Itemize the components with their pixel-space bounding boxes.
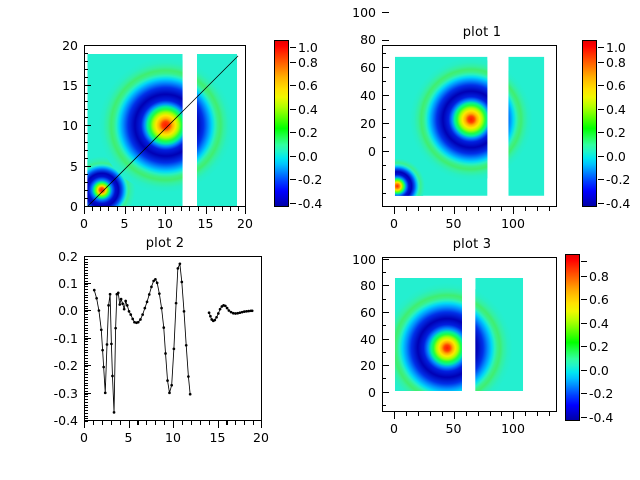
data-point-marker: [100, 328, 103, 331]
ytick-minor: [84, 295, 88, 296]
data-point-marker: [117, 292, 120, 295]
ytick-minor: [84, 333, 88, 334]
ytick-label: 80: [340, 34, 376, 47]
ytick-minor: [84, 350, 88, 351]
ytick-minor: [84, 380, 88, 381]
axes-top-left: [84, 45, 246, 207]
data-point-marker: [175, 302, 178, 305]
colorbar-tick-label: 0.2: [606, 127, 626, 140]
data-point-marker: [121, 302, 124, 305]
ytick-minor: [84, 399, 88, 400]
xtick-label: 20: [230, 218, 260, 231]
ytick-minor: [84, 369, 88, 370]
xtick-label: 50: [434, 218, 474, 231]
ytick-minor: [84, 264, 88, 265]
data-point-marker: [146, 300, 149, 303]
colorbar-tick-label: 0.8: [589, 270, 609, 283]
ytick-minor: [84, 405, 88, 406]
ytick-minor: [84, 361, 88, 362]
data-point-marker: [213, 319, 216, 322]
data-point-marker: [141, 313, 144, 316]
xtick-label: 100: [493, 218, 533, 231]
data-point-marker: [173, 347, 176, 350]
ytick-minor: [84, 273, 88, 274]
heatmap-bottom-right-image: [383, 258, 556, 411]
data-point-marker: [209, 315, 212, 318]
ytick-minor: [84, 286, 88, 287]
ytick-minor: [84, 284, 88, 285]
colorbar-tick-label: 0.8: [606, 56, 626, 69]
ytick-label: 20: [342, 360, 376, 373]
data-point-marker: [180, 281, 183, 284]
ytick-minor: [84, 358, 88, 359]
data-point-marker: [154, 278, 157, 281]
ytick-minor: [84, 281, 88, 282]
xtick-label: 15: [191, 218, 221, 231]
data-point-marker: [228, 309, 231, 312]
panel-bottom-left: plot 2 -0.4 -0.3 -0.2 -0.1 0.0 0.1 0.2: [0, 240, 320, 480]
ytick-minor: [84, 300, 88, 301]
data-point-marker: [224, 305, 227, 308]
data-point-marker: [189, 393, 192, 396]
data-point-marker: [150, 286, 153, 289]
ytick-minor: [84, 372, 88, 373]
ytick-minor: [84, 262, 88, 263]
colorbar-tick-label: 0.0: [589, 364, 609, 377]
colorbar-tick-label: 0.0: [606, 150, 626, 163]
data-point-marker: [124, 300, 127, 303]
ytick-minor: [84, 394, 88, 395]
data-point-marker: [106, 343, 109, 346]
ytick-label: 5: [48, 160, 78, 173]
data-point-marker: [128, 310, 131, 313]
colorbar-tick-label: 0.6: [589, 294, 609, 307]
ytick-minor: [84, 402, 88, 403]
ytick-minor: [84, 416, 88, 417]
ytick-label: 60: [342, 307, 376, 320]
ytick-label: -0.4: [36, 415, 78, 428]
colorbar-tick-label: 0.8: [298, 56, 318, 69]
ytick-minor: [84, 363, 88, 364]
colorbar-tick-label: -0.2: [589, 388, 613, 401]
colorbar-tick-label: 0.6: [298, 80, 318, 93]
xtick-label: 15: [201, 432, 235, 445]
data-point-marker: [129, 313, 132, 316]
ytick-minor: [84, 256, 88, 257]
colorbar-tick-label: -0.4: [298, 197, 322, 210]
colorbar-tick-label: 0.6: [606, 80, 626, 93]
axes-top-right: [382, 45, 557, 207]
xtick-label: 20: [244, 432, 278, 445]
data-point-marker: [109, 293, 112, 296]
colorbar-tick-label: 0.4: [606, 103, 626, 116]
colorbar-tick-label: -0.4: [606, 197, 630, 210]
ytick-minor: [84, 330, 88, 331]
ytick-minor: [84, 410, 88, 411]
data-point-marker: [160, 307, 163, 310]
ytick-minor: [84, 341, 88, 342]
ytick-label: 20: [340, 118, 376, 131]
ytick-minor: [84, 413, 88, 414]
ytick-minor: [84, 344, 88, 345]
xtick-label: 5: [112, 432, 146, 445]
data-point-marker: [113, 411, 116, 414]
overlay-diagonal-line: [85, 46, 245, 206]
data-point-marker: [131, 318, 134, 321]
ytick-minor: [84, 278, 88, 279]
ytick-label: 60: [340, 62, 376, 75]
ytick-minor: [84, 383, 88, 384]
ytick-minor: [84, 396, 88, 397]
ytick-minor: [84, 352, 88, 353]
ytick-minor: [84, 289, 88, 290]
xtick-label: 0: [67, 432, 101, 445]
colorbar-tick-label: -0.2: [298, 174, 322, 187]
colorbar-tick-label: 0.0: [298, 150, 318, 163]
data-point-marker: [162, 326, 165, 329]
panel-bottom-right: plot 3: [320, 240, 640, 480]
data-point-marker: [170, 384, 173, 387]
data-point-marker: [123, 308, 126, 311]
ytick-minor: [84, 259, 88, 260]
ytick-label: 0.1: [36, 278, 78, 291]
ytick-label: 0: [48, 201, 78, 214]
colorbar-tick-label: 0.2: [298, 127, 318, 140]
xtick-label: 10: [156, 432, 190, 445]
ytick-label: 0.2: [36, 251, 78, 264]
ytick-label: 0: [342, 386, 376, 399]
data-point-marker: [187, 375, 190, 378]
data-point-marker: [226, 307, 229, 310]
panel-top-right-title: plot 1: [382, 25, 582, 40]
ytick-minor: [84, 388, 88, 389]
data-point-marker: [168, 391, 171, 394]
data-point-marker: [144, 307, 147, 310]
ytick-label: 100: [336, 253, 376, 266]
ytick-minor: [84, 336, 88, 337]
ytick-minor: [84, 308, 88, 309]
data-point-marker: [139, 318, 142, 321]
colorbar-tick-label: 1.0: [606, 42, 626, 55]
ytick-minor: [84, 377, 88, 378]
ytick-minor: [84, 391, 88, 392]
data-point-marker: [101, 349, 104, 352]
ytick-minor: [84, 317, 88, 318]
data-point-marker: [208, 311, 211, 314]
colorbar-tick-label: 0.2: [589, 341, 609, 354]
ytick-minor: [84, 314, 88, 315]
ytick-minor: [84, 407, 88, 408]
data-point-marker: [251, 309, 254, 312]
data-point-marker: [98, 309, 101, 312]
data-point-marker: [177, 267, 180, 270]
ytick-label: 10: [48, 120, 78, 133]
ytick-minor: [84, 306, 88, 307]
data-point-marker: [164, 352, 167, 355]
ytick-minor: [84, 270, 88, 271]
ytick-minor: [84, 325, 88, 326]
data-point-marker: [166, 379, 169, 382]
axes-bottom-right: [382, 257, 557, 412]
heatmap-top-right-image: [383, 46, 556, 206]
lineplot-bottom-left: [85, 257, 261, 420]
panel-top-right: plot 1: [320, 0, 640, 240]
ytick-minor: [84, 355, 88, 356]
ytick-label: 40: [342, 333, 376, 346]
data-point-marker: [179, 262, 182, 265]
data-point-marker: [102, 366, 105, 369]
data-point-marker: [185, 344, 188, 347]
xtick-label: 50: [434, 423, 474, 436]
data-point-marker: [111, 375, 114, 378]
ytick-minor: [84, 347, 88, 348]
data-point-marker: [104, 391, 107, 394]
ytick-label: -0.2: [36, 360, 78, 373]
ytick-minor: [84, 374, 88, 375]
ytick-minor: [84, 322, 88, 323]
ytick-minor: [84, 292, 88, 293]
xtick-label: 0: [69, 218, 99, 231]
xtick-label: 0: [374, 218, 414, 231]
ytick-minor: [84, 328, 88, 329]
heatmap-top-left: [85, 46, 245, 206]
ytick-minor: [84, 339, 88, 340]
data-point-marker: [118, 303, 121, 306]
heatmap-bottom-right: [383, 258, 556, 411]
xtick-label: 10: [150, 218, 180, 231]
data-point-marker: [114, 327, 117, 330]
colorbar-tick-label: 1.0: [298, 42, 318, 55]
ytick-minor: [84, 366, 88, 367]
panel-top-left: 0 5 10 15 20: [0, 0, 320, 240]
xtick-label: 0: [374, 423, 414, 436]
data-point-marker: [137, 321, 140, 324]
colorbar-bottom-right: [565, 254, 580, 421]
ytick-minor: [84, 267, 88, 268]
data-point-marker: [158, 292, 161, 295]
ytick-label: -0.1: [36, 332, 78, 345]
data-point-marker: [183, 310, 186, 313]
xtick-label: 5: [110, 218, 140, 231]
colorbar-tick-label: 0.4: [589, 317, 609, 330]
data-point-marker: [120, 298, 123, 301]
data-point-marker: [148, 293, 151, 296]
ytick-minor: [84, 275, 88, 276]
xtick-label: 100: [493, 423, 533, 436]
ytick-label: 20: [48, 40, 78, 53]
ytick-minor: [84, 418, 88, 419]
ytick-label: -0.3: [36, 387, 78, 400]
ytick-label: 15: [48, 79, 78, 92]
data-point-marker: [110, 343, 113, 346]
axes-bottom-left: [84, 256, 262, 421]
ytick-label: 0.0: [36, 305, 78, 318]
data-point-marker: [217, 312, 220, 315]
colorbar-top-left: [274, 40, 289, 207]
data-point-marker: [126, 304, 129, 307]
data-point-marker: [107, 304, 110, 307]
ytick-minor: [84, 385, 88, 386]
ytick-minor: [84, 311, 88, 312]
data-point-marker: [215, 316, 218, 319]
colorbar-tick-label: -0.2: [606, 174, 630, 187]
ytick-minor: [84, 319, 88, 320]
data-point-marker: [156, 281, 159, 284]
ytick-label: 0: [340, 146, 376, 159]
colorbar-tick-label: -0.4: [589, 411, 613, 424]
heatmap-top-right: [383, 46, 556, 206]
ytick-label: 100: [335, 6, 376, 19]
line-path: [94, 264, 190, 413]
data-point-marker: [93, 289, 96, 292]
colorbar-top-right: [582, 40, 597, 207]
data-point-marker: [95, 297, 98, 300]
panel-bottom-left-title: plot 2: [84, 236, 246, 251]
panel-bottom-right-title: plot 3: [382, 237, 562, 252]
colorbar-tick-label: 0.4: [298, 103, 318, 116]
figure-canvas: 0 5 10 15 20: [0, 0, 640, 480]
ytick-label: 40: [340, 90, 376, 103]
ytick-label: 80: [342, 280, 376, 293]
ytick-minor: [84, 303, 88, 304]
data-point-marker: [219, 308, 222, 311]
ytick-minor: [84, 297, 88, 298]
